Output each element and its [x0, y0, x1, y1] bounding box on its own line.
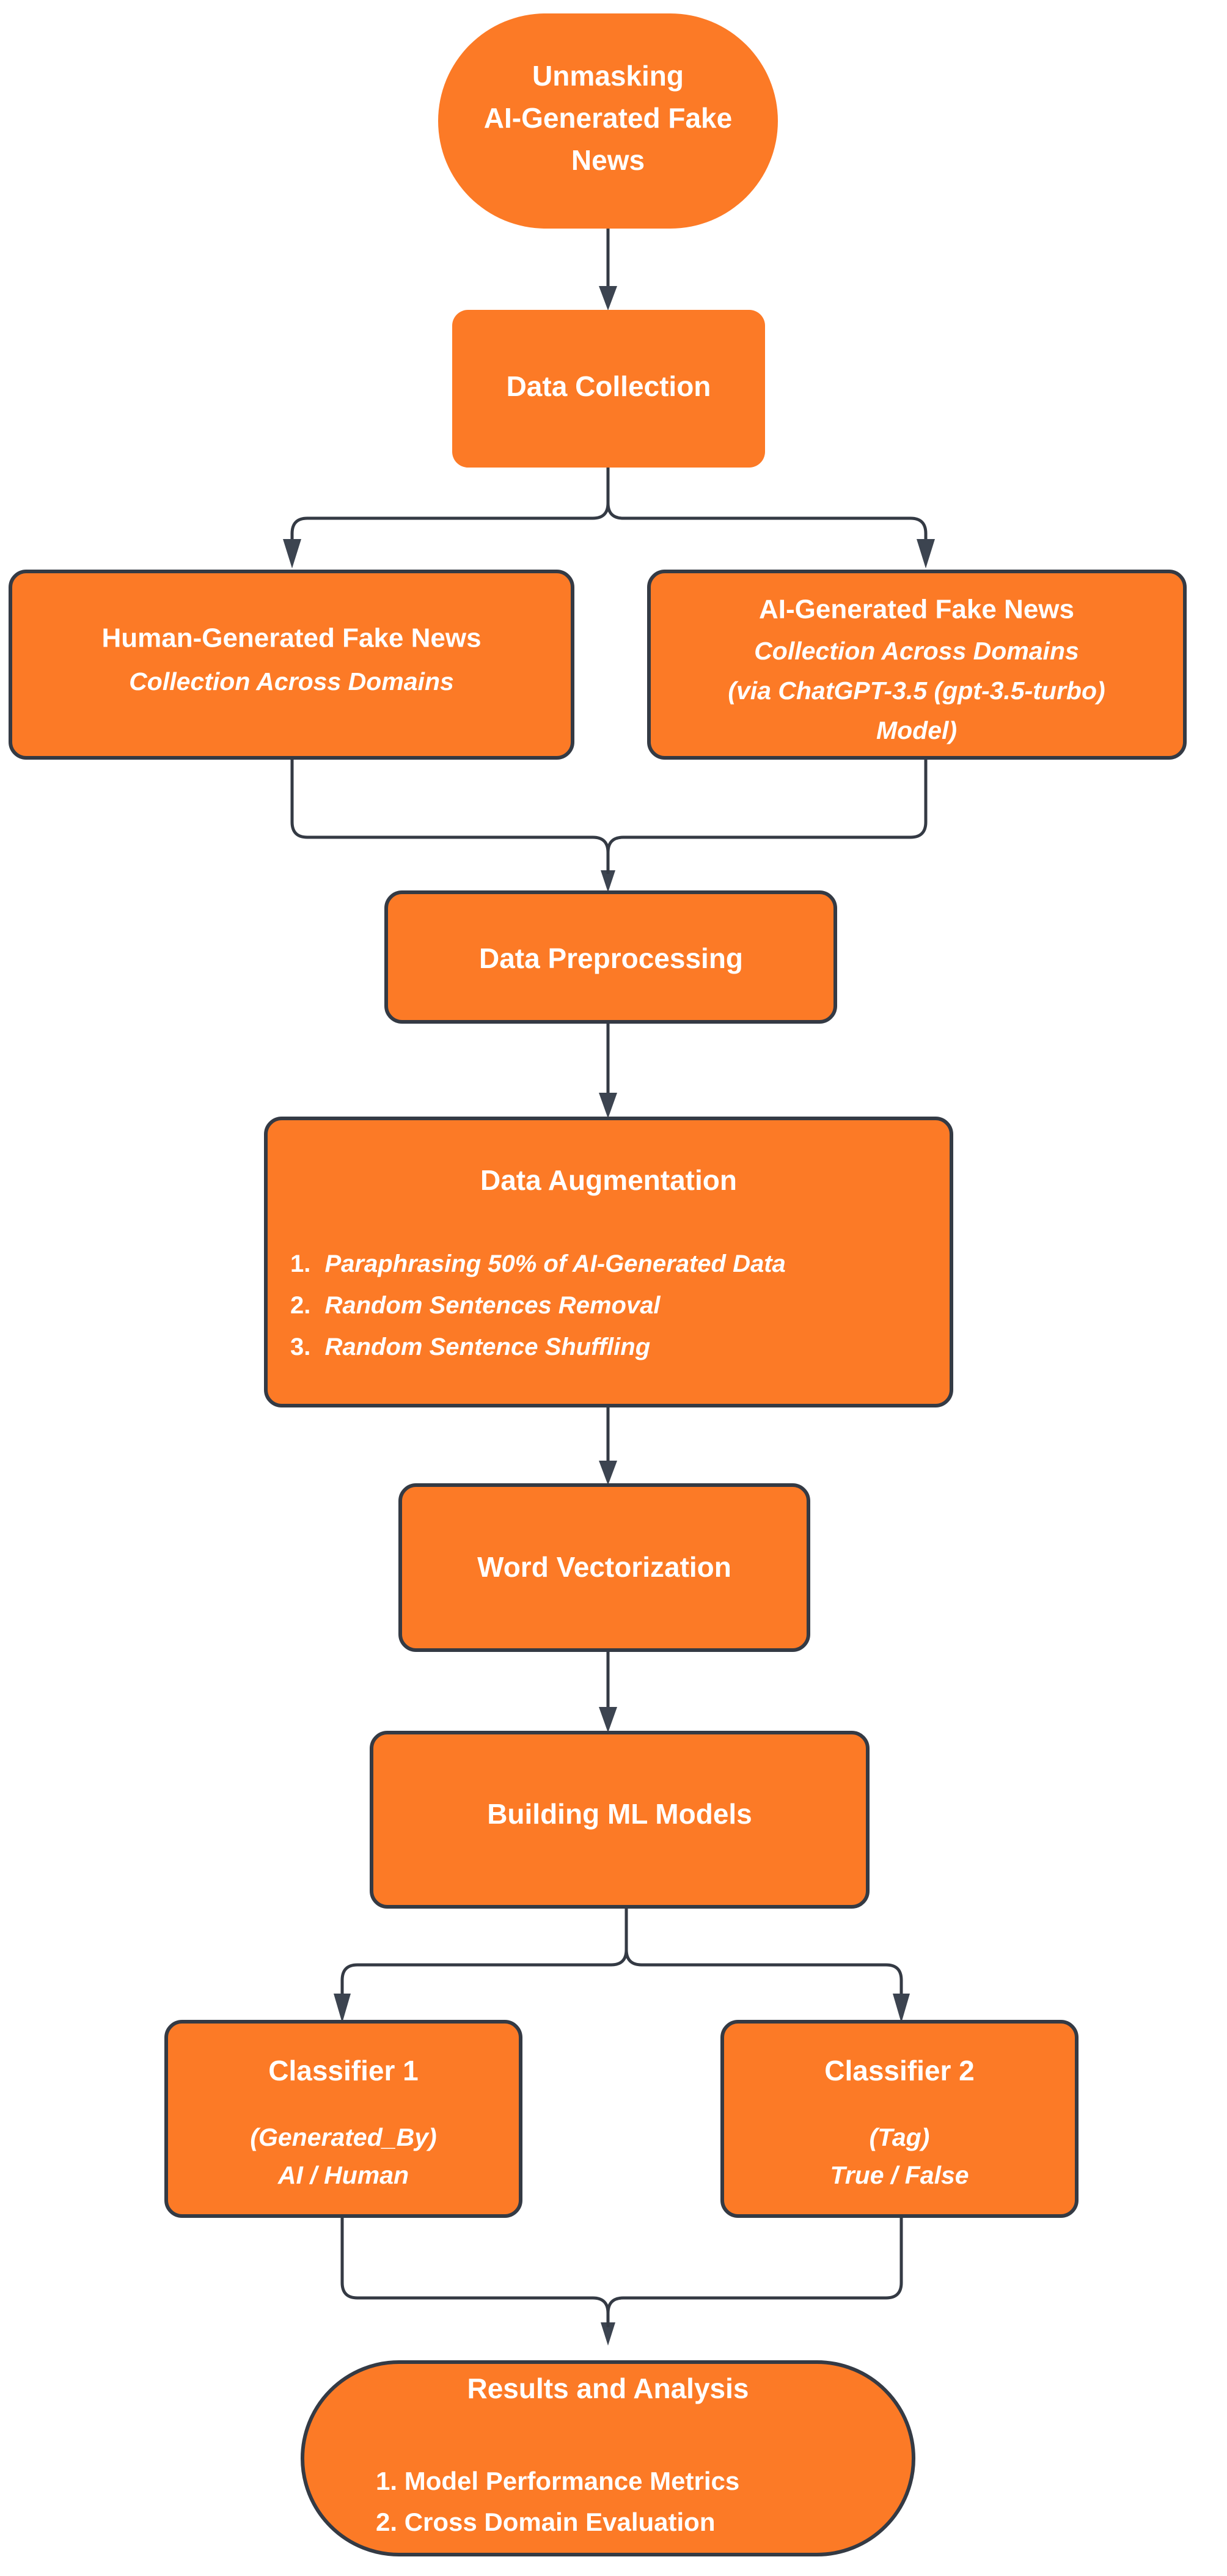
edge-classifier-2-to-results [608, 2215, 901, 2327]
node-classifier-2[interactable]: Classifier 2 (Tag) True / False [722, 2022, 1077, 2216]
node-classifier-2-subtitle-1: (Tag) [870, 2123, 930, 2151]
node-word-vectorization[interactable]: Word Vectorization [400, 1485, 808, 1650]
node-data-preprocessing[interactable]: Data Preprocessing [386, 892, 835, 1022]
edge-human-to-preprocessing [292, 758, 615, 892]
node-word-vectorization-title: Word Vectorization [477, 1551, 731, 1583]
node-building-ml-models-title: Building ML Models [487, 1798, 752, 1830]
node-ai-fake-news-subtitle-1: Collection Across Domains [754, 637, 1079, 665]
node-data-preprocessing-title: Data Preprocessing [479, 942, 743, 974]
flowchart-svg: Unmasking AI-Generated Fake News Data Co… [0, 0, 1227, 2576]
node-human-fake-news-title: Human-Generated Fake News [101, 623, 481, 653]
node-root[interactable]: Unmasking AI-Generated Fake News [438, 13, 778, 229]
results-item-1-text: Model Performance Metrics [405, 2467, 740, 2495]
node-ai-fake-news-title: AI-Generated Fake News [759, 595, 1074, 625]
results-item-2-text: Cross Domain Evaluation [405, 2508, 716, 2536]
node-results-analysis-title: Results and Analysis [467, 2372, 749, 2404]
edge-data-collection-to-human [283, 468, 608, 568]
node-human-fake-news[interactable]: Human-Generated Fake News Collection Acr… [10, 571, 573, 758]
augmentation-item-3-text: Random Sentence Shuffling [324, 1334, 650, 1360]
edge-preprocessing-to-augmentation [599, 1022, 617, 1118]
flowchart-canvas: Unmasking AI-Generated Fake News Data Co… [0, 0, 1227, 2576]
node-ai-fake-news-subtitle-3: Model) [876, 716, 957, 744]
edge-classifier-1-to-results [342, 2215, 615, 2346]
node-data-augmentation-title: Data Augmentation [480, 1164, 737, 1196]
node-root-line-2: AI-Generated Fake [484, 102, 732, 134]
edge-root-to-data-collection [599, 228, 617, 310]
augmentation-item-1-number: 1. [290, 1250, 310, 1277]
node-classifier-1[interactable]: Classifier 1 (Generated_By) AI / Human [166, 2022, 521, 2216]
node-data-augmentation[interactable]: Data Augmentation 1. Paraphrasing 50% of… [266, 1118, 951, 1406]
node-classifier-1-subtitle-1: (Generated_By) [250, 2123, 436, 2151]
edge-ai-to-preprocessing [608, 758, 926, 874]
edge-augmentation-to-vectorization [599, 1406, 617, 1485]
node-data-collection-title: Data Collection [507, 370, 711, 402]
node-classifier-2-subtitle-2: True / False [830, 2161, 969, 2189]
node-ai-fake-news[interactable]: AI-Generated Fake News Collection Across… [649, 571, 1185, 758]
node-ai-fake-news-subtitle-2: (via ChatGPT-3.5 (gpt-3.5-turbo) [728, 677, 1105, 705]
node-building-ml-models[interactable]: Building ML Models [372, 1733, 868, 1907]
node-results-analysis[interactable]: Results and Analysis 1. Model Performanc… [302, 2362, 914, 2555]
node-data-augmentation-item-1: 1. Paraphrasing 50% of AI-Generated Data [290, 1250, 786, 1277]
node-classifier-1-subtitle-2: AI / Human [277, 2161, 409, 2189]
node-data-augmentation-item-3: 3. Random Sentence Shuffling [290, 1334, 650, 1360]
node-classifier-1-title: Classifier 1 [268, 2055, 418, 2086]
augmentation-item-2-text: Random Sentences Removal [324, 1292, 661, 1319]
node-results-item-2: 2. Cross Domain Evaluation [376, 2508, 715, 2536]
results-item-2-number: 2. [376, 2508, 397, 2536]
edge-vectorization-to-models [599, 1650, 617, 1733]
edge-models-to-classifier-2 [626, 1907, 910, 2023]
node-data-collection[interactable]: Data Collection [452, 310, 765, 468]
node-human-fake-news-subtitle-1: Collection Across Domains [129, 667, 454, 695]
augmentation-item-2-number: 2. [290, 1292, 310, 1319]
node-root-line-3: News [571, 144, 645, 176]
augmentation-item-3-number: 3. [290, 1334, 310, 1360]
node-data-augmentation-item-2: 2. Random Sentences Removal [290, 1292, 661, 1319]
node-classifier-2-title: Classifier 2 [824, 2055, 974, 2086]
edge-data-collection-to-ai [608, 468, 935, 568]
results-item-1-number: 1. [376, 2467, 397, 2495]
node-results-item-1: 1. Model Performance Metrics [376, 2467, 739, 2495]
augmentation-item-1-text: Paraphrasing 50% of AI-Generated Data [324, 1250, 785, 1277]
edge-models-to-classifier-1 [334, 1907, 626, 2023]
node-root-line-1: Unmasking [532, 60, 684, 92]
